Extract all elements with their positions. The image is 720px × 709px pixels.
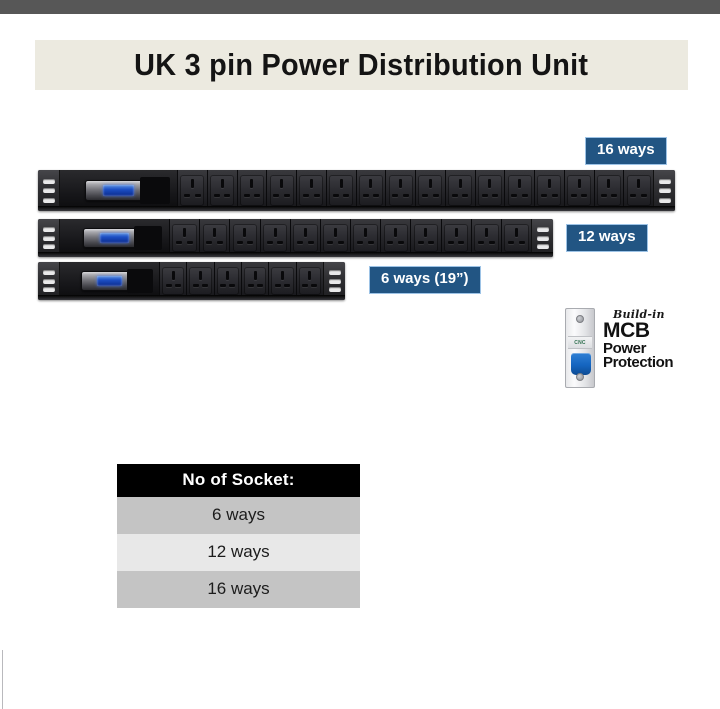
live-slot: [297, 241, 303, 244]
bracket-slot: [43, 287, 55, 292]
mcb-callout: CNC Build-in MCB Power Protection: [565, 308, 690, 390]
bracket-slot: [43, 198, 55, 203]
uk-socket-outlet: [381, 219, 411, 257]
bracket-slot: [659, 188, 671, 193]
neutral-slot: [247, 241, 253, 244]
live-slot: [248, 284, 254, 287]
switch-indicator-led: [100, 233, 128, 243]
earth-slot: [340, 179, 343, 188]
bracket-slot: [43, 227, 55, 232]
neutral-slot: [224, 194, 230, 197]
live-slot: [387, 241, 393, 244]
mcb-heading-line1: MCB: [603, 321, 691, 342]
pdu-strip-16-way: [38, 170, 675, 211]
neutral-slot: [257, 284, 263, 287]
earth-slot: [183, 228, 186, 237]
live-slot: [214, 194, 220, 197]
socket-row: [178, 170, 653, 211]
live-slot: [541, 194, 547, 197]
uk-socket-outlet: [261, 219, 291, 257]
bracket-slot: [537, 236, 549, 241]
uk-socket-outlet: [411, 219, 441, 257]
badge-12-ways: 12 ways: [566, 224, 648, 252]
uk-socket-outlet: [230, 219, 260, 257]
live-slot: [302, 284, 308, 287]
neutral-slot: [195, 194, 201, 197]
top-letterbox-bar: [0, 0, 720, 14]
neutral-slot: [314, 194, 320, 197]
mount-bracket-right: [531, 219, 553, 257]
live-slot: [237, 241, 243, 244]
uk-socket-outlet: [416, 170, 446, 211]
live-slot: [267, 241, 273, 244]
neutral-slot: [552, 194, 558, 197]
live-slot: [422, 194, 428, 197]
neutral-slot: [254, 194, 260, 197]
bracket-slot: [537, 244, 549, 249]
uk-socket-outlet: [624, 170, 653, 211]
uk-socket-outlet: [565, 170, 595, 211]
earth-slot: [394, 228, 397, 237]
earth-slot: [455, 228, 458, 237]
pdu-strip-12-way: [38, 219, 553, 257]
switch-bezel-shadow: [140, 177, 170, 203]
live-slot: [357, 241, 363, 244]
neutral-slot: [373, 194, 379, 197]
earth-slot: [191, 179, 194, 188]
earth-slot: [485, 228, 488, 237]
live-slot: [508, 241, 514, 244]
neutral-slot: [611, 194, 617, 197]
earth-slot: [424, 228, 427, 237]
earth-slot: [518, 179, 521, 188]
uk-socket-outlet: [187, 262, 214, 300]
live-slot: [571, 194, 577, 197]
earth-slot: [199, 271, 202, 280]
neutral-slot: [489, 241, 495, 244]
neutral-slot: [641, 194, 647, 197]
earth-slot: [274, 228, 277, 237]
socket-row: [170, 219, 531, 257]
neutral-slot: [433, 194, 439, 197]
neutral-slot: [462, 194, 468, 197]
neutral-slot: [428, 241, 434, 244]
neutral-slot: [519, 241, 525, 244]
table-header-no-of-socket: No of Socket:: [117, 464, 360, 497]
live-slot: [275, 284, 281, 287]
uk-socket-outlet: [595, 170, 625, 211]
uk-socket-outlet: [442, 219, 472, 257]
mount-bracket-left: [38, 170, 60, 211]
neutral-slot: [368, 241, 374, 244]
badge-6-ways: 6 ways (19”): [369, 266, 481, 294]
earth-slot: [254, 271, 257, 280]
earth-slot: [548, 179, 551, 188]
left-edge-rule: [2, 650, 3, 709]
bracket-slot: [43, 244, 55, 249]
power-switch-module[interactable]: [60, 262, 160, 300]
uk-socket-outlet: [238, 170, 268, 211]
page-title: UK 3 pin Power Distribution Unit: [134, 47, 588, 83]
bracket-slot: [329, 270, 341, 275]
socket-row: [160, 262, 323, 300]
neutral-slot: [522, 194, 528, 197]
neutral-slot: [229, 284, 235, 287]
mount-bracket-right: [323, 262, 345, 300]
neutral-slot: [343, 194, 349, 197]
live-slot: [448, 241, 454, 244]
live-slot: [392, 194, 398, 197]
uk-socket-outlet: [386, 170, 416, 211]
uk-socket-outlet: [476, 170, 506, 211]
earth-slot: [429, 179, 432, 188]
uk-socket-outlet: [472, 219, 502, 257]
table-row: 16 ways: [117, 571, 360, 608]
uk-socket-outlet: [535, 170, 565, 211]
neutral-slot: [202, 284, 208, 287]
neutral-slot: [311, 284, 317, 287]
live-slot: [363, 194, 369, 197]
neutral-slot: [284, 194, 290, 197]
earth-slot: [607, 179, 610, 188]
live-slot: [418, 241, 424, 244]
live-slot: [176, 241, 182, 244]
live-slot: [206, 241, 212, 244]
neutral-slot: [308, 241, 314, 244]
earth-slot: [226, 271, 229, 280]
neutral-slot: [187, 241, 193, 244]
uk-socket-outlet: [357, 170, 387, 211]
live-slot: [303, 194, 309, 197]
earth-slot: [578, 179, 581, 188]
bracket-slot: [43, 236, 55, 241]
earth-slot: [310, 179, 313, 188]
bracket-slot: [329, 279, 341, 284]
bracket-slot: [43, 279, 55, 284]
live-slot: [511, 194, 517, 197]
live-slot: [452, 194, 458, 197]
earth-slot: [459, 179, 462, 188]
pdu-strip-6-way: [38, 262, 345, 300]
uk-socket-outlet: [502, 219, 531, 257]
uk-socket-outlet: [269, 262, 296, 300]
uk-socket-outlet: [208, 170, 238, 211]
earth-slot: [243, 228, 246, 237]
earth-slot: [304, 228, 307, 237]
earth-slot: [399, 179, 402, 188]
title-banner: UK 3 pin Power Distribution Unit: [35, 40, 688, 90]
earth-slot: [369, 179, 372, 188]
mount-bracket-left: [38, 262, 60, 300]
uk-socket-outlet: [321, 219, 351, 257]
earth-slot: [221, 179, 224, 188]
neutral-slot: [217, 241, 223, 244]
uk-socket-outlet: [242, 262, 269, 300]
mcb-brand-label: CNC: [568, 336, 592, 349]
live-slot: [333, 194, 339, 197]
live-slot: [601, 194, 607, 197]
neutral-slot: [277, 241, 283, 244]
bracket-slot: [43, 188, 55, 193]
uk-socket-outlet: [215, 262, 242, 300]
uk-socket-outlet: [505, 170, 535, 211]
uk-socket-outlet: [327, 170, 357, 211]
earth-slot: [308, 271, 311, 280]
badge-16-ways: 16 ways: [585, 137, 667, 165]
mcb-terminal-screw-top: [576, 315, 584, 323]
earth-slot: [637, 179, 640, 188]
live-slot: [273, 194, 279, 197]
live-slot: [630, 194, 636, 197]
bracket-slot: [659, 198, 671, 203]
earth-slot: [280, 179, 283, 188]
neutral-slot: [284, 284, 290, 287]
mcb-heading-line3: Protection: [603, 356, 691, 371]
bracket-slot: [43, 270, 55, 275]
neutral-slot: [403, 194, 409, 197]
bracket-slot: [329, 287, 341, 292]
mcb-breaker-graphic: CNC: [565, 308, 595, 388]
earth-slot: [281, 271, 284, 280]
live-slot: [244, 194, 250, 197]
earth-slot: [488, 179, 491, 188]
socket-count-table: No of Socket: 6 ways 12 ways 16 ways: [117, 464, 360, 608]
mcb-text-block: Build-in MCB Power Protection: [603, 308, 691, 371]
uk-socket-outlet: [291, 219, 321, 257]
power-switch-module[interactable]: [60, 170, 178, 211]
switch-bezel-shadow: [127, 269, 153, 293]
bracket-slot: [43, 179, 55, 184]
uk-socket-outlet: [351, 219, 381, 257]
earth-slot: [250, 179, 253, 188]
neutral-slot: [458, 241, 464, 244]
earth-slot: [515, 228, 518, 237]
switch-bezel-shadow: [134, 226, 162, 250]
uk-socket-outlet: [200, 219, 230, 257]
live-slot: [193, 284, 199, 287]
uk-socket-outlet: [297, 170, 327, 211]
earth-slot: [213, 228, 216, 237]
live-slot: [166, 284, 172, 287]
neutral-slot: [338, 241, 344, 244]
live-slot: [327, 241, 333, 244]
live-slot: [482, 194, 488, 197]
neutral-slot: [581, 194, 587, 197]
earth-slot: [364, 228, 367, 237]
earth-slot: [172, 271, 175, 280]
table-row: 6 ways: [117, 497, 360, 534]
switch-indicator-led: [103, 185, 133, 195]
neutral-slot: [492, 194, 498, 197]
uk-socket-outlet: [160, 262, 187, 300]
neutral-slot: [175, 284, 181, 287]
live-slot: [220, 284, 226, 287]
bracket-slot: [659, 179, 671, 184]
mcb-terminal-screw-bottom: [576, 373, 584, 381]
uk-socket-outlet: [446, 170, 476, 211]
mcb-toggle-lever[interactable]: [571, 353, 591, 375]
switch-indicator-led: [97, 276, 122, 286]
mount-bracket-left: [38, 219, 60, 257]
live-slot: [184, 194, 190, 197]
live-slot: [478, 241, 484, 244]
uk-socket-outlet: [170, 219, 200, 257]
uk-socket-outlet: [297, 262, 323, 300]
neutral-slot: [398, 241, 404, 244]
table-row: 12 ways: [117, 534, 360, 571]
bracket-slot: [537, 227, 549, 232]
mount-bracket-right: [653, 170, 675, 211]
power-switch-module[interactable]: [60, 219, 170, 257]
uk-socket-outlet: [178, 170, 208, 211]
uk-socket-outlet: [267, 170, 297, 211]
earth-slot: [334, 228, 337, 237]
